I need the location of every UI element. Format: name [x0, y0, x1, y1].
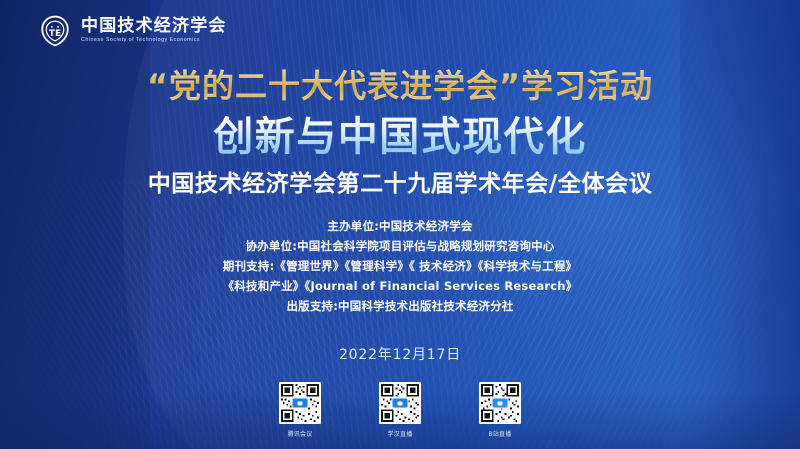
page-title: 创新与中国式现代化	[0, 115, 800, 160]
detail-line-journals-2: 《科技和产业》《Journal of Financial Services Re…	[0, 276, 800, 296]
society-branding: TE 中国技术经济学会 Chinese Society of Technolog…	[38, 14, 227, 48]
detail-line-journals-1: 期刊支持:《管理世界》《管理科学》《 技术经济》《科学技术与工程》	[0, 256, 800, 276]
society-shield-logo-icon: TE	[38, 14, 72, 48]
qr-caption: B站直播	[489, 429, 512, 438]
qr-code-row: 腾讯会议	[0, 382, 800, 438]
detail-line-publisher: 出版支持:中国科学技术出版社技术经济分社	[0, 296, 800, 316]
qr-item-tencent-meeting[interactable]: 腾讯会议	[279, 382, 321, 438]
conference-name: 中国技术经济学会第二十九届学术年会/全体会议	[0, 171, 800, 199]
qr-item-bilibili-live[interactable]: B站直播	[479, 382, 521, 438]
qr-center-badge	[392, 398, 409, 409]
qr-center-badge	[292, 398, 309, 409]
qr-code-icon[interactable]	[379, 382, 421, 424]
conference-poster: TE 中国技术经济学会 Chinese Society of Technolog…	[0, 0, 800, 449]
event-date: 2022年12月17日	[0, 344, 800, 364]
qr-code-icon[interactable]	[279, 382, 321, 424]
society-name-block: 中国技术经济学会 Chinese Society of Technology E…	[81, 18, 227, 43]
detail-line-cohost: 协办单位:中国社会科学院项目评估与战略规划研究咨询中心	[0, 236, 800, 256]
society-name-cn: 中国技术经济学会	[81, 18, 227, 35]
qr-code-icon[interactable]	[479, 382, 521, 424]
qr-caption: 腾讯会议	[288, 429, 313, 438]
qr-center-badge	[492, 398, 509, 409]
activity-title: “党的二十大代表进学会”学习活动	[0, 68, 800, 105]
society-name-en: Chinese Society of Technology Economics	[81, 38, 227, 43]
qr-caption: 学汉直播	[388, 429, 413, 438]
detail-line-host: 主办单位:中国技术经济学会	[0, 216, 800, 236]
logo-monogram: TE	[49, 29, 61, 39]
organizer-details: 主办单位:中国技术经济学会 协办单位:中国社会科学院项目评估与战略规划研究咨询中…	[0, 216, 800, 316]
qr-item-study-live[interactable]: 学汉直播	[379, 382, 421, 438]
